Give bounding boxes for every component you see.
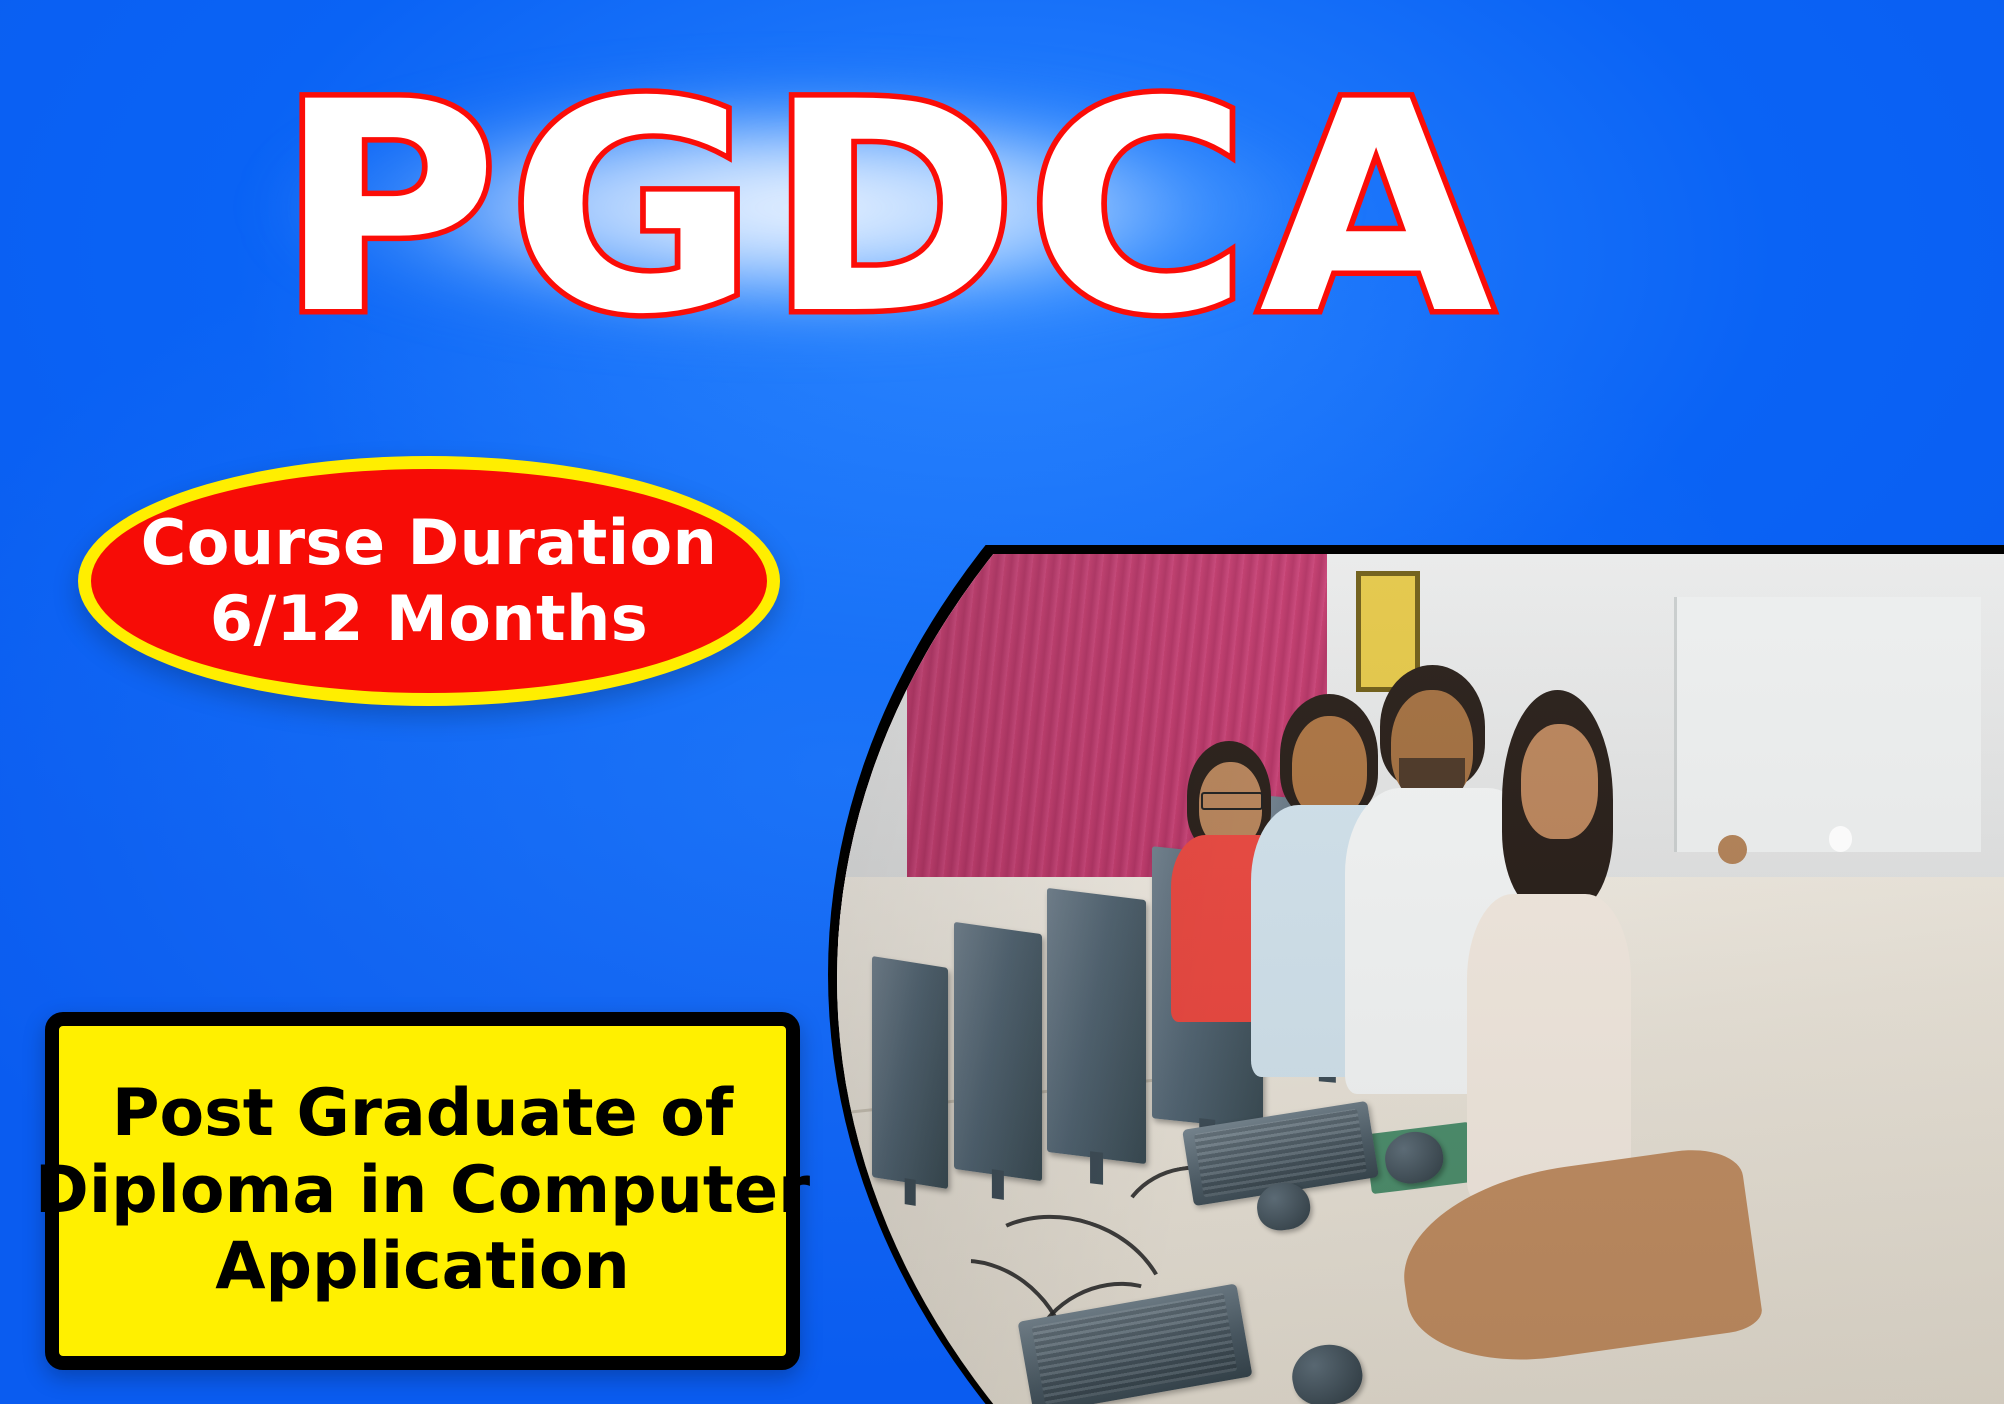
lab-scene xyxy=(837,554,2004,1404)
course-fullform-box: Post Graduate of Diploma in Computer App… xyxy=(45,1012,800,1370)
course-fullform-line-1: Post Graduate of xyxy=(112,1076,733,1153)
pgdca-course-banner: PGDCA Course Duration 6/12 Months Post G… xyxy=(0,0,2004,1404)
duration-label: Course Duration xyxy=(141,505,718,581)
course-fullform-line-3: Application xyxy=(215,1229,630,1306)
monitor xyxy=(1047,888,1146,1164)
computer-lab-photo-frame xyxy=(828,545,2004,1404)
course-duration-badge: Course Duration 6/12 Months xyxy=(78,456,780,706)
course-fullform-line-2: Diploma in Computer xyxy=(35,1153,810,1230)
computer-lab-photo xyxy=(837,554,2004,1404)
monitor xyxy=(872,956,948,1189)
banner-title: PGDCA xyxy=(277,65,1503,355)
student-face xyxy=(1521,724,1598,839)
monitor xyxy=(954,922,1042,1181)
banner-title-container: PGDCA xyxy=(0,30,1780,390)
eyeglasses xyxy=(1201,792,1263,810)
lab-whiteboard xyxy=(1674,597,1980,852)
student-face xyxy=(1292,716,1367,818)
duration-value: 6/12 Months xyxy=(210,581,648,657)
student-body xyxy=(1467,894,1630,1200)
student-earring xyxy=(1829,826,1852,852)
